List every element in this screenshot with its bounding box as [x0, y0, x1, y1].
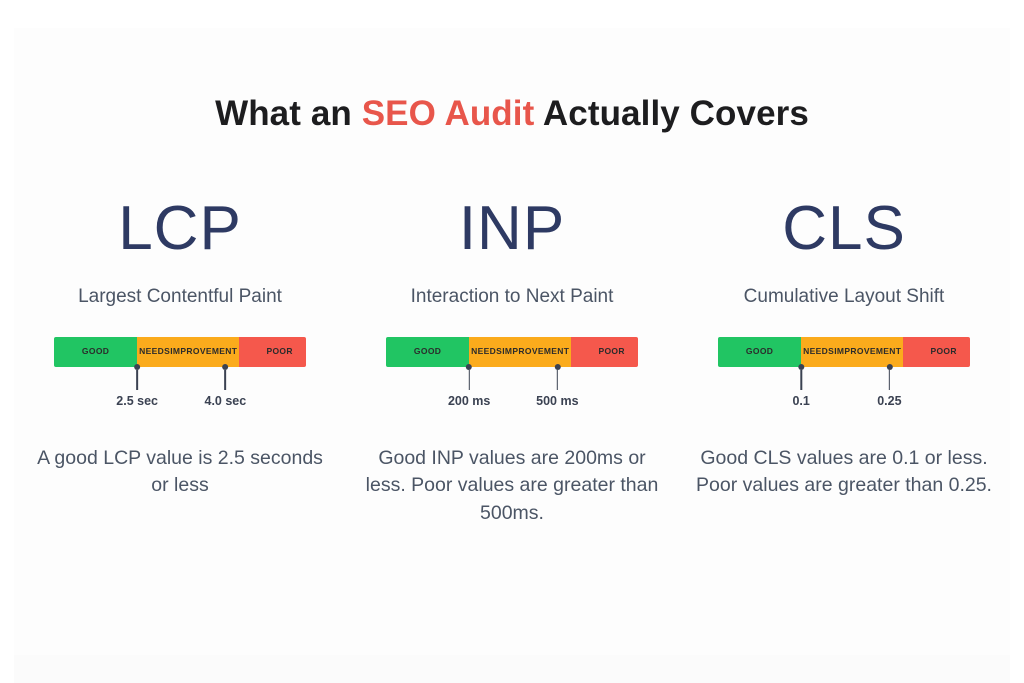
gauge-segment-ni-line2: IMPROVEMENT	[170, 347, 237, 357]
tick-line-icon	[557, 370, 559, 390]
page-title-suffix: Actually Covers	[534, 94, 809, 133]
gauge-segment-ni-line2: IMPROVEMENT	[502, 347, 569, 357]
tick-label: 500 ms	[536, 394, 578, 408]
metric-full-name-cls: Cumulative Layout Shift	[744, 286, 945, 309]
metric-abbr-lcp: LCP	[118, 198, 242, 260]
threshold-tick: 200 ms	[448, 367, 490, 408]
tick-line-icon	[800, 370, 802, 390]
threshold-tick: 500 ms	[536, 367, 578, 408]
metric-abbr-inp: INP	[459, 198, 565, 260]
threshold-gauge-cls: GOOD NEEDS IMPROVEMENT POOR 0.1	[718, 337, 970, 413]
gauge-ticks-cls: 0.1 0.25	[718, 367, 970, 413]
tick-line-icon	[468, 370, 470, 390]
tick-label: 0.25	[877, 394, 901, 408]
metric-abbr-cls: CLS	[782, 198, 906, 260]
slide-canvas: What an SEO Audit Actually Covers LCP La…	[0, 0, 1024, 683]
page-title: What an SEO Audit Actually Covers	[0, 94, 1024, 134]
tick-line-icon	[889, 370, 891, 390]
gauge-bar-cls: GOOD NEEDS IMPROVEMENT POOR	[718, 337, 970, 367]
gauge-segment-good: GOOD	[718, 337, 801, 367]
gauge-segment-ni-line1: NEEDS	[471, 347, 502, 357]
tick-label: 0.1	[792, 394, 809, 408]
metric-full-name-lcp: Largest Contentful Paint	[78, 286, 282, 309]
gauge-segment-ni-line1: NEEDS	[139, 347, 170, 357]
metric-description-cls: Good CLS values are 0.1 or less. Poor va…	[694, 445, 994, 500]
tick-line-icon	[136, 370, 138, 390]
metric-description-lcp: A good LCP value is 2.5 seconds or less	[30, 445, 330, 500]
bottom-edge-band	[0, 655, 1024, 683]
metrics-row: LCP Largest Contentful Paint GOOD NEEDS …	[14, 190, 1010, 528]
gauge-bar-lcp: GOOD NEEDS IMPROVEMENT POOR	[54, 337, 306, 367]
page-title-prefix: What an	[215, 94, 362, 133]
threshold-tick: 2.5 sec	[116, 367, 158, 408]
page-title-accent: SEO Audit	[362, 94, 535, 133]
metric-card-inp: INP Interaction to Next Paint GOOD NEEDS…	[346, 190, 678, 528]
gauge-segment-ni-line1: NEEDS	[803, 347, 834, 357]
gauge-ticks-inp: 200 ms 500 ms	[386, 367, 638, 413]
tick-label: 2.5 sec	[116, 394, 158, 408]
gauge-segment-good: GOOD	[386, 337, 469, 367]
top-edge-band	[0, 0, 1024, 28]
gauge-segment-needs-improvement: NEEDS IMPROVEMENT	[137, 337, 239, 367]
gauge-segment-poor: POOR	[571, 337, 638, 367]
threshold-tick: 0.1	[792, 367, 809, 408]
gauge-segment-poor: POOR	[903, 337, 970, 367]
gauge-ticks-lcp: 2.5 sec 4.0 sec	[54, 367, 306, 413]
metric-full-name-inp: Interaction to Next Paint	[411, 286, 614, 309]
gauge-segment-good: GOOD	[54, 337, 137, 367]
tick-line-icon	[225, 370, 227, 390]
gauge-segment-poor: POOR	[239, 337, 306, 367]
threshold-gauge-inp: GOOD NEEDS IMPROVEMENT POOR 200 ms	[386, 337, 638, 413]
threshold-tick: 4.0 sec	[205, 367, 247, 408]
gauge-segment-ni-line2: IMPROVEMENT	[834, 347, 901, 357]
threshold-tick: 0.25	[877, 367, 901, 408]
gauge-segment-needs-improvement: NEEDS IMPROVEMENT	[801, 337, 903, 367]
tick-label: 200 ms	[448, 394, 490, 408]
gauge-segment-needs-improvement: NEEDS IMPROVEMENT	[469, 337, 571, 367]
metric-card-cls: CLS Cumulative Layout Shift GOOD NEEDS I…	[678, 190, 1010, 528]
threshold-gauge-lcp: GOOD NEEDS IMPROVEMENT POOR 2.5 sec	[54, 337, 306, 413]
metric-card-lcp: LCP Largest Contentful Paint GOOD NEEDS …	[14, 190, 346, 528]
tick-label: 4.0 sec	[205, 394, 247, 408]
metric-description-inp: Good INP values are 200ms or less. Poor …	[362, 445, 662, 528]
gauge-bar-inp: GOOD NEEDS IMPROVEMENT POOR	[386, 337, 638, 367]
